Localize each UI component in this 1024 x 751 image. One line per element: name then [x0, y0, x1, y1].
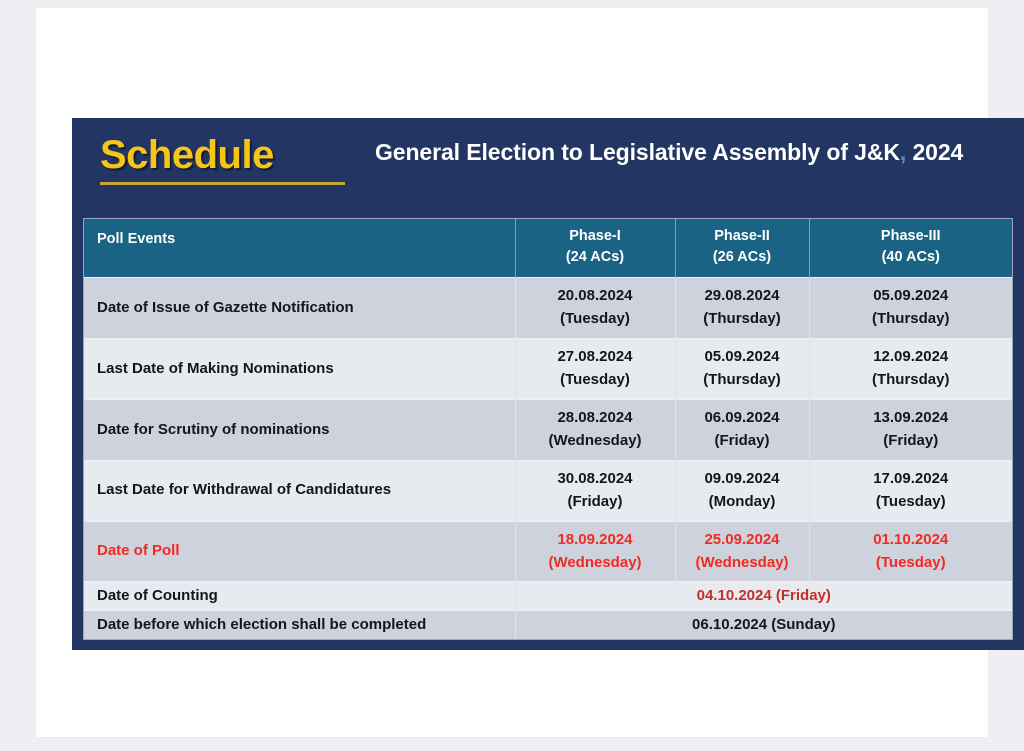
- table-header: Poll Events Phase-I (24 ACs) Phase-II (2…: [84, 219, 1012, 278]
- row-phase-1-cell: 27.08.2024 (Tuesday): [515, 338, 675, 399]
- completion-date-value: 06.10.2024 (Sunday): [515, 611, 1012, 639]
- column-header-phase-1: Phase-I (24 ACs): [515, 219, 675, 278]
- row-phase-2-cell: 06.09.2024 (Friday): [675, 399, 809, 460]
- row-event-label: Date before which election shall be comp…: [84, 611, 515, 639]
- table-header-row: Poll Events Phase-I (24 ACs) Phase-II (2…: [84, 219, 1012, 278]
- page-title-main: General Election to Legislative Assembly…: [375, 139, 900, 165]
- document-card: Schedule General Election to Legislative…: [36, 8, 988, 737]
- date-value: 25.09.2024: [678, 529, 807, 552]
- column-header-poll-events-label: Poll Events: [97, 231, 175, 247]
- date-value: 01.10.2024: [812, 529, 1011, 552]
- table-row-completion-deadline: Date before which election shall be comp…: [84, 611, 1012, 639]
- row-event-label: Date of Issue of Gazette Notification: [84, 278, 515, 339]
- row-phase-1-cell: 30.08.2024 (Friday): [515, 460, 675, 521]
- table-body: Date of Issue of Gazette Notification 20…: [84, 278, 1012, 639]
- date-weekday: (Monday): [678, 491, 807, 514]
- table-row: Date for Scrutiny of nominations 28.08.2…: [84, 399, 1012, 460]
- counting-date-value: 04.10.2024 (Friday): [515, 582, 1012, 611]
- row-event-label: Last Date of Making Nominations: [84, 338, 515, 399]
- row-phase-3-cell: 12.09.2024 (Thursday): [809, 338, 1012, 399]
- date-value: 09.09.2024: [678, 468, 807, 491]
- row-phase-3-cell: 05.09.2024 (Thursday): [809, 278, 1012, 339]
- date-weekday: (Friday): [678, 430, 807, 453]
- date-weekday: (Tuesday): [812, 491, 1011, 514]
- row-event-label: Date of Counting: [84, 582, 515, 611]
- date-weekday: (Tuesday): [518, 308, 673, 331]
- schedule-panel: Schedule General Election to Legislative…: [72, 118, 1024, 650]
- date-value: 29.08.2024: [678, 285, 807, 308]
- date-weekday: (Thursday): [812, 308, 1011, 331]
- date-value: 12.09.2024: [812, 346, 1011, 369]
- column-header-phase-2: Phase-II (26 ACs): [675, 219, 809, 278]
- date-weekday: (Tuesday): [518, 369, 673, 392]
- row-phase-2-cell: 09.09.2024 (Monday): [675, 460, 809, 521]
- column-header-phase-2-sub: (26 ACs): [676, 247, 809, 268]
- page-title-year: 2024: [912, 139, 963, 165]
- row-phase-1-cell: 20.08.2024 (Tuesday): [515, 278, 675, 339]
- date-value: 28.08.2024: [518, 407, 673, 430]
- row-event-label: Date of Poll: [84, 521, 515, 582]
- date-value: 27.08.2024: [518, 346, 673, 369]
- row-phase-2-cell: 05.09.2024 (Thursday): [675, 338, 809, 399]
- column-header-phase-1-sub: (24 ACs): [516, 247, 675, 268]
- page-title: General Election to Legislative Assembly…: [375, 138, 1002, 168]
- column-header-phase-3-label: Phase-III: [881, 228, 941, 244]
- date-weekday: (Thursday): [678, 308, 807, 331]
- row-phase-1-cell: 18.09.2024 (Wednesday): [515, 521, 675, 582]
- row-phase-3-cell: 17.09.2024 (Tuesday): [809, 460, 1012, 521]
- row-phase-2-cell: 29.08.2024 (Thursday): [675, 278, 809, 339]
- date-value: 30.08.2024: [518, 468, 673, 491]
- date-value: 05.09.2024: [812, 285, 1011, 308]
- date-weekday: (Thursday): [678, 369, 807, 392]
- column-header-phase-1-label: Phase-I: [569, 228, 621, 244]
- column-header-phase-2-label: Phase-II: [714, 228, 770, 244]
- schedule-badge-label: Schedule: [100, 134, 375, 176]
- schedule-badge: Schedule: [100, 134, 375, 185]
- date-value: 17.09.2024: [812, 468, 1011, 491]
- row-phase-2-cell: 25.09.2024 (Wednesday): [675, 521, 809, 582]
- row-event-label: Date for Scrutiny of nominations: [84, 399, 515, 460]
- schedule-table: Poll Events Phase-I (24 ACs) Phase-II (2…: [84, 219, 1012, 639]
- table-row-date-of-counting: Date of Counting 04.10.2024 (Friday): [84, 582, 1012, 611]
- date-value: 06.09.2024: [678, 407, 807, 430]
- column-header-poll-events: Poll Events: [84, 219, 515, 278]
- date-value: 20.08.2024: [518, 285, 673, 308]
- row-event-label: Last Date for Withdrawal of Candidatures: [84, 460, 515, 521]
- schedule-badge-underline: [100, 182, 345, 185]
- panel-header: Schedule General Election to Legislative…: [72, 118, 1024, 212]
- date-weekday: (Wednesday): [678, 552, 807, 575]
- table-row: Date of Issue of Gazette Notification 20…: [84, 278, 1012, 339]
- page-title-comma: ,: [900, 139, 906, 165]
- table-row: Last Date for Withdrawal of Candidatures…: [84, 460, 1012, 521]
- table-row: Last Date of Making Nominations 27.08.20…: [84, 338, 1012, 399]
- date-value: 13.09.2024: [812, 407, 1011, 430]
- date-weekday: (Friday): [812, 430, 1011, 453]
- column-header-phase-3-sub: (40 ACs): [810, 247, 1013, 268]
- date-value: 18.09.2024: [518, 529, 673, 552]
- row-phase-3-cell: 01.10.2024 (Tuesday): [809, 521, 1012, 582]
- date-weekday: (Thursday): [812, 369, 1011, 392]
- column-header-phase-3: Phase-III (40 ACs): [809, 219, 1012, 278]
- date-value: 05.09.2024: [678, 346, 807, 369]
- date-weekday: (Wednesday): [518, 552, 673, 575]
- table-row-date-of-poll: Date of Poll 18.09.2024 (Wednesday) 25.0…: [84, 521, 1012, 582]
- date-weekday: (Wednesday): [518, 430, 673, 453]
- row-phase-3-cell: 13.09.2024 (Friday): [809, 399, 1012, 460]
- date-weekday: (Friday): [518, 491, 673, 514]
- date-weekday: (Tuesday): [812, 552, 1011, 575]
- row-phase-1-cell: 28.08.2024 (Wednesday): [515, 399, 675, 460]
- schedule-table-container: Poll Events Phase-I (24 ACs) Phase-II (2…: [83, 218, 1013, 640]
